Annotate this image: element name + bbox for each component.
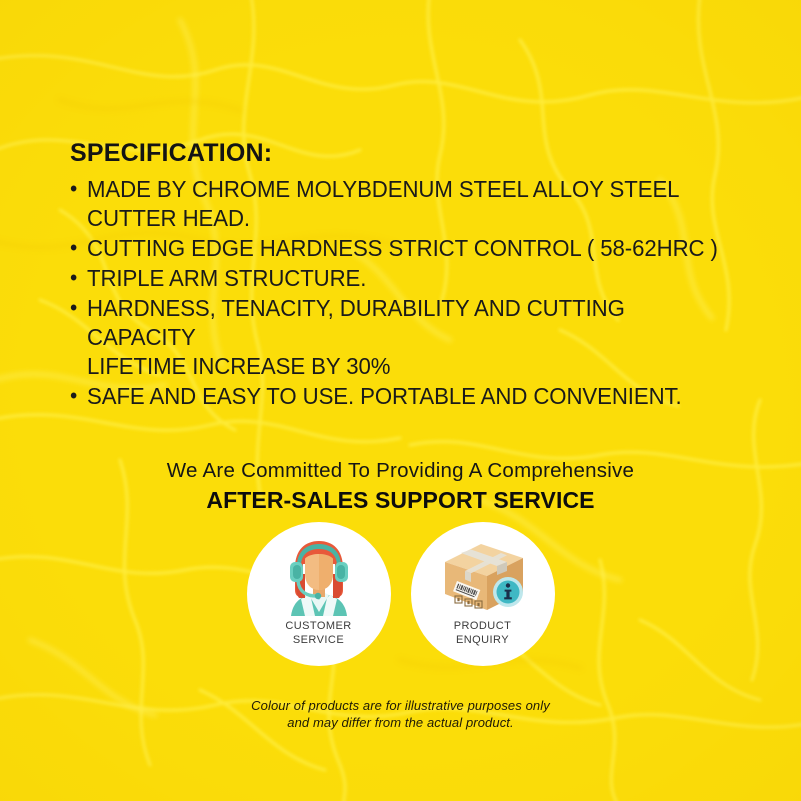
specification-item: SAFE AND EASY TO USE. PORTABLE AND CONVE… xyxy=(70,382,732,411)
specification-item: HARDNESS, TENACITY, DURABILITY AND CUTTI… xyxy=(70,294,732,381)
after-sales-tagline: We Are Committed To Providing A Comprehe… xyxy=(0,458,801,483)
service-badges: CUSTOMER SERVICE xyxy=(0,522,801,666)
specification-item: CUTTING EDGE HARDNESS STRICT CONTROL ( 5… xyxy=(70,234,732,263)
after-sales-heading: We Are Committed To Providing A Comprehe… xyxy=(0,458,801,514)
specification-title: SPECIFICATION: xyxy=(70,140,770,168)
customer-service-headset-icon xyxy=(271,538,367,616)
specification-block: SPECIFICATION: MADE BY CHROME MOLYBDENUM… xyxy=(70,140,770,412)
product-spec-poster: SPECIFICATION: MADE BY CHROME MOLYBDENUM… xyxy=(0,0,801,801)
disclaimer-text: Colour of products are for illustrative … xyxy=(0,697,801,731)
specification-item: MADE BY CHROME MOLYBDENUM STEEL ALLOY ST… xyxy=(70,175,732,233)
badge-customer-service-label: CUSTOMER SERVICE xyxy=(285,620,351,647)
badge-product-enquiry-label: PRODUCT ENQUIRY xyxy=(454,620,512,647)
badge-product-enquiry: PRODUCT ENQUIRY xyxy=(411,522,555,666)
specification-list: MADE BY CHROME MOLYBDENUM STEEL ALLOY ST… xyxy=(70,175,770,411)
specification-item: TRIPLE ARM STRUCTURE. xyxy=(70,264,732,293)
badge-customer-service: CUSTOMER SERVICE xyxy=(247,522,391,666)
after-sales-title: AFTER-SALES SUPPORT SERVICE xyxy=(0,486,801,514)
product-enquiry-box-icon xyxy=(435,538,531,616)
